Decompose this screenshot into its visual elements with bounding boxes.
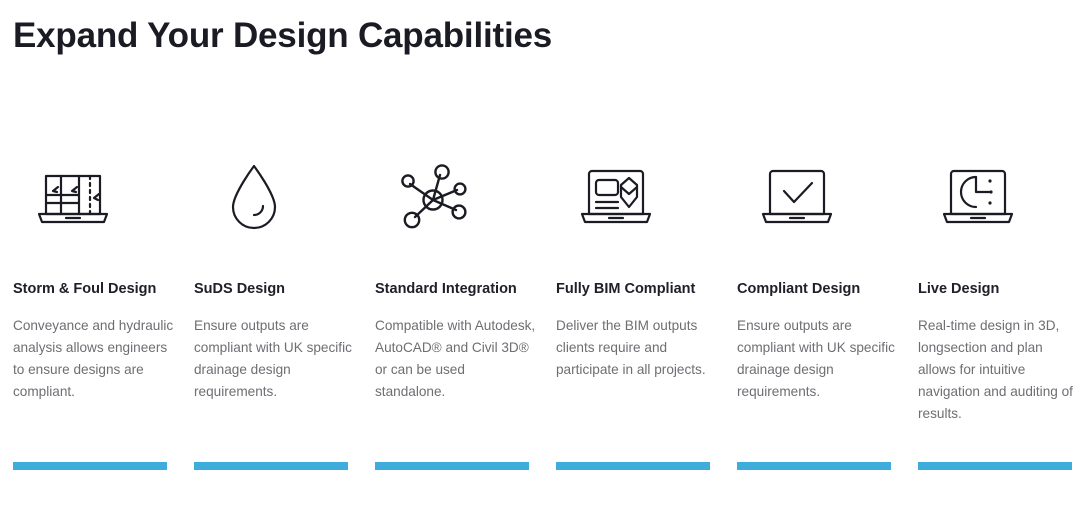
laptop-clock-icon [918, 160, 1072, 236]
feature-grid: Storm & Foul Design Conveyance and hydra… [13, 160, 1074, 480]
feature-title: SuDS Design [194, 280, 348, 298]
page-title: Expand Your Design Capabilities [13, 14, 552, 58]
feature-title: Storm & Foul Design [13, 280, 167, 298]
feature-description: Deliver the BIM outputs clients require … [556, 315, 717, 381]
feature-description: Ensure outputs are compliant with UK spe… [194, 315, 355, 403]
accent-bar-slot [13, 462, 194, 470]
feature-card-suds-design: SuDS Design Ensure outputs are compliant… [194, 160, 375, 480]
feature-description: Ensure outputs are compliant with UK spe… [737, 315, 898, 403]
laptop-bim-model-icon [556, 160, 710, 236]
network-hub-icon [375, 160, 529, 236]
feature-highlights-page: Expand Your Design Capabilities [0, 0, 1082, 508]
laptop-checkmark-icon [737, 160, 891, 236]
feature-title: Fully BIM Compliant [556, 280, 710, 298]
feature-description: Compatible with Autodesk, AutoCAD® and C… [375, 315, 536, 403]
feature-card-storm-foul-design: Storm & Foul Design Conveyance and hydra… [13, 160, 194, 480]
feature-card-live-design: Live Design Real-time design in 3D, long… [918, 160, 1082, 480]
accent-bar [194, 462, 348, 470]
water-droplet-icon [194, 160, 348, 236]
accent-bar [737, 462, 891, 470]
feature-title: Live Design [918, 280, 1072, 298]
feature-title: Standard Integration [375, 280, 529, 298]
feature-card-standard-integration: Standard Integration Compatible with Aut… [375, 160, 556, 480]
accent-bar [918, 462, 1072, 470]
feature-description: Conveyance and hydraulic analysis allows… [13, 315, 174, 403]
accent-bar-slot [556, 462, 737, 470]
accent-bar [375, 462, 529, 470]
laptop-site-plan-icon [13, 160, 167, 236]
accent-bar-slot [194, 462, 375, 470]
feature-card-fully-bim-compliant: Fully BIM Compliant Deliver the BIM outp… [556, 160, 737, 480]
feature-title: Compliant Design [737, 280, 891, 298]
accent-bar-slot [918, 462, 1082, 470]
accent-bar [556, 462, 710, 470]
accent-bar-slot [375, 462, 556, 470]
accent-bar [13, 462, 167, 470]
accent-bar-slot [737, 462, 918, 470]
feature-description: Real-time design in 3D, longsection and … [918, 315, 1079, 425]
accent-bar-row [13, 462, 1074, 470]
feature-card-compliant-design: Compliant Design Ensure outputs are comp… [737, 160, 918, 480]
